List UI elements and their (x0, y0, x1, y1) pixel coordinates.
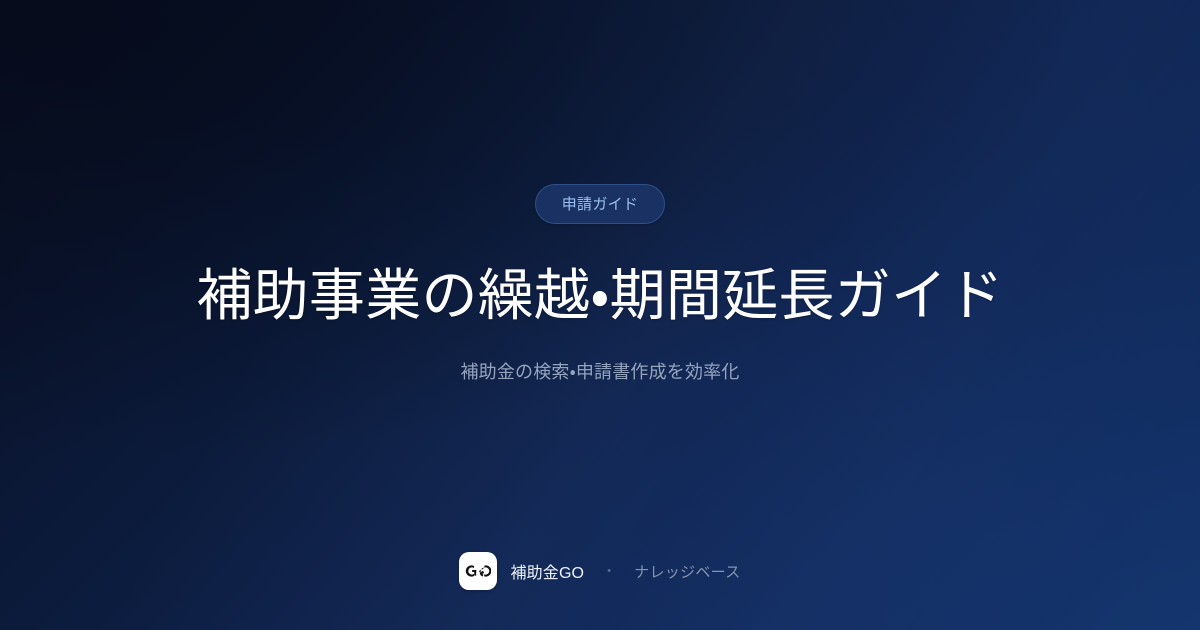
brand-separator: ・ (602, 564, 616, 578)
brand-name: 補助金GO (510, 559, 584, 583)
page-title: 補助事業の繰越・期間延長ガイド (196, 262, 1003, 330)
card-content: 申請ガイド 補助事業の繰越・期間延長ガイド 補助金の検索・申請書作成を効率化 (0, 0, 1200, 630)
brand-section-label: ナレッジベース (634, 561, 740, 582)
og-card: 申請ガイド 補助事業の繰越・期間延長ガイド 補助金の検索・申請書作成を効率化 補… (0, 0, 1200, 630)
category-badge: 申請ガイド (535, 184, 666, 224)
footer-brand: 補助金GO ・ ナレッジベース (0, 552, 1200, 590)
page-subtitle: 補助金の検索・申請書作成を効率化 (461, 359, 740, 386)
go-logo-icon (459, 552, 497, 590)
